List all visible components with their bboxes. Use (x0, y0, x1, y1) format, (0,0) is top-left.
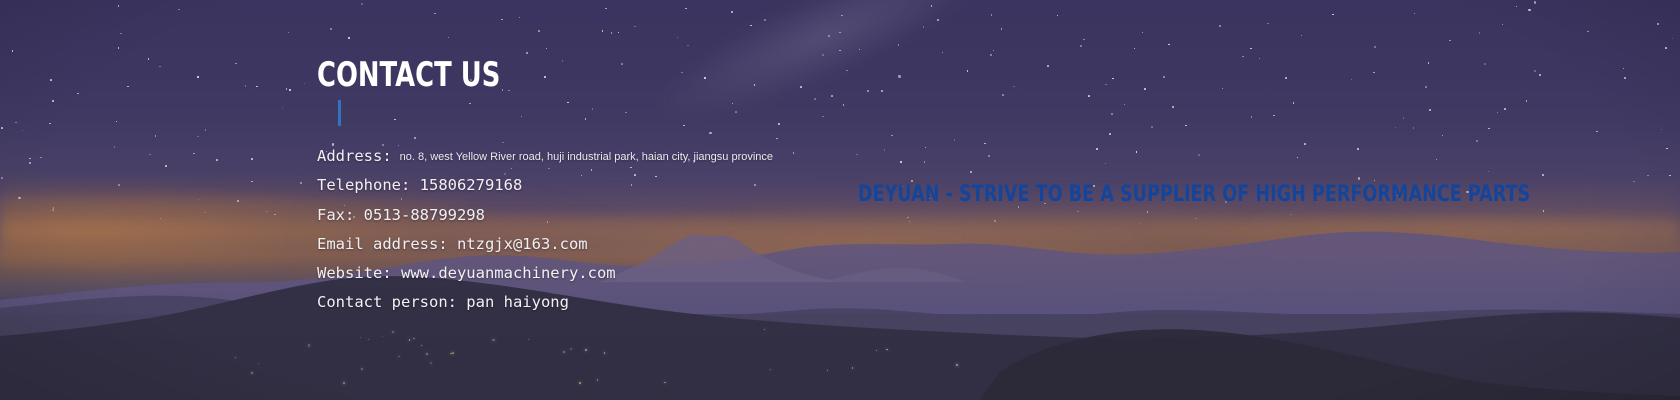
address-value: no. 8, west Yellow River road, huji indu… (400, 151, 773, 163)
contact-row-person: Contact person: pan haiyong (317, 288, 773, 317)
company-slogan: DEYUAN - STRIVE TO BE A SUPPLIER OF HIGH… (858, 184, 1530, 206)
contact-row-telephone: Telephone: 15806279168 (317, 171, 773, 200)
page-title: CONTACT US (317, 58, 500, 92)
contact-row-website[interactable]: Website: www.deyuanmachinery.com (317, 259, 773, 288)
contact-banner: CONTACT US Address:no. 8, west Yellow Ri… (0, 0, 1680, 400)
contact-details-list: Address:no. 8, west Yellow River road, h… (317, 142, 773, 318)
contact-row-fax: Fax: 0513-88799298 (317, 201, 773, 230)
address-label: Address: (317, 147, 392, 165)
title-accent-bar (338, 100, 341, 126)
contact-row-address: Address:no. 8, west Yellow River road, h… (317, 142, 773, 171)
contact-row-email[interactable]: Email address: ntzgjx@163.com (317, 230, 773, 259)
content-layer: CONTACT US Address:no. 8, west Yellow Ri… (0, 0, 1680, 400)
